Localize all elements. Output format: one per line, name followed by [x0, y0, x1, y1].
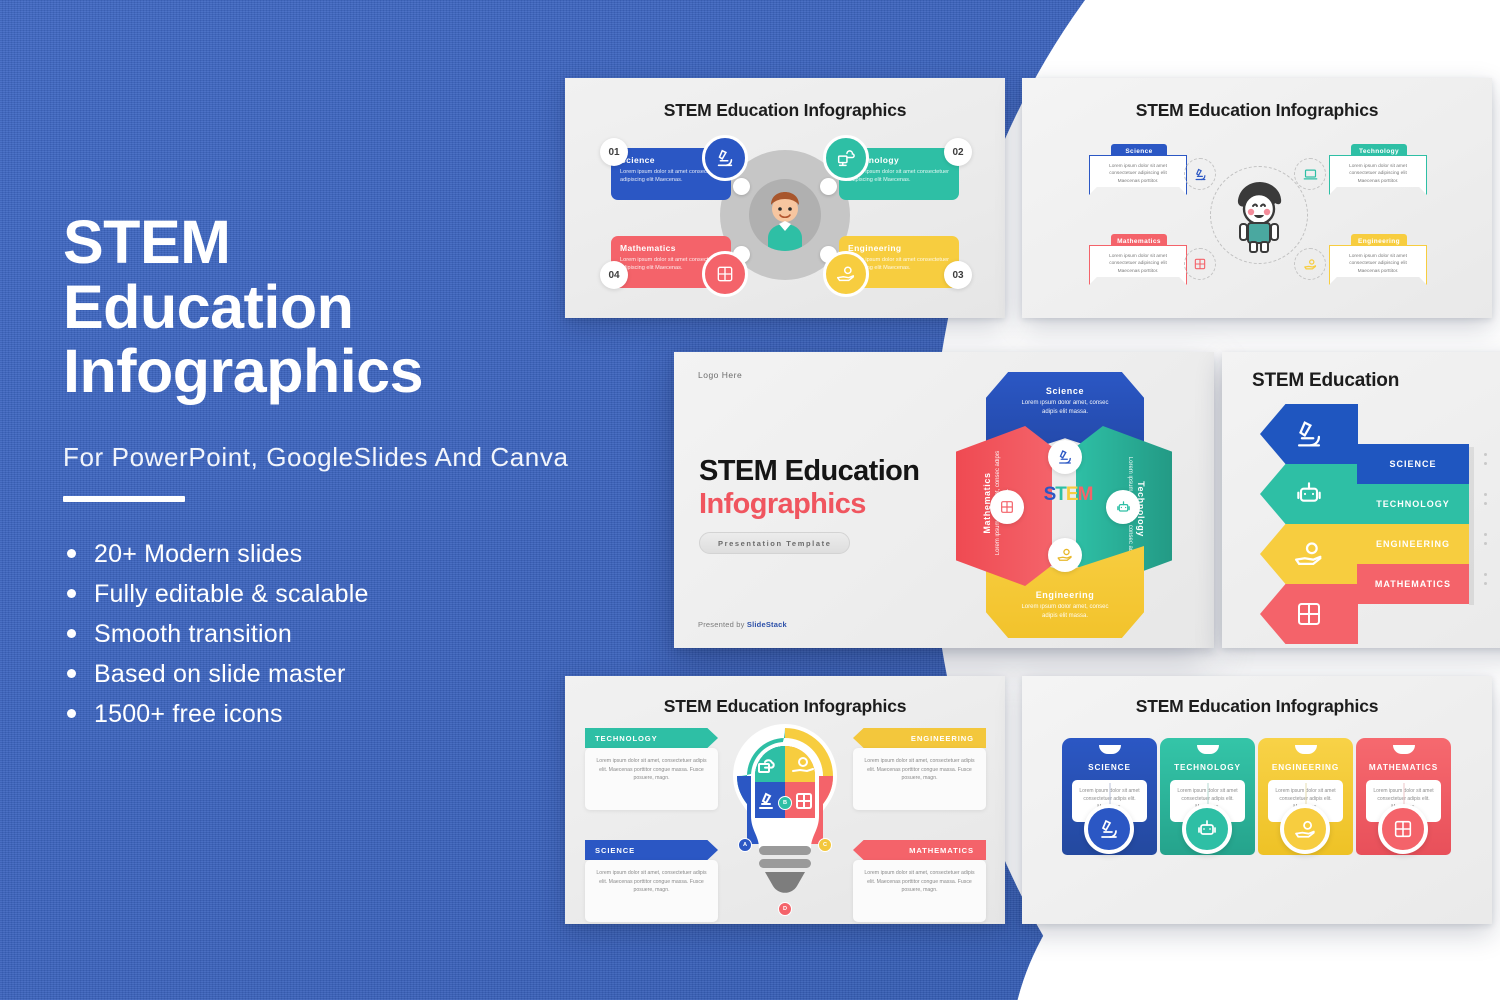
segment-label: Engineering [986, 590, 1144, 600]
calculator-icon [990, 490, 1024, 524]
slide-preview-hang-tags[interactable]: STEM Education Infographics SCIENCE Lore… [1022, 676, 1492, 924]
slide4-text-lines [1484, 447, 1488, 471]
feature-list: 20+ Modern slides Fully editable & scala… [63, 534, 703, 734]
ribbon-description: Lorem ipsum dolor sit amet consectetuer … [1329, 245, 1427, 285]
tag-string [1306, 783, 1307, 805]
gear-hand-icon [823, 251, 869, 297]
slide4-bar-mathematics[interactable]: MATHEMATICS [1357, 564, 1469, 604]
student-avatar [749, 179, 821, 251]
title-line-1: STEM [63, 208, 230, 276]
slide4-text-lines [1484, 487, 1488, 511]
segment-description: Lorem ipsum dolor amet, consec adipis el… [986, 600, 1144, 621]
slide4-hex-technology[interactable] [1260, 464, 1358, 524]
title-line-3: Infographics [63, 337, 423, 405]
lightbulb-diagram [715, 718, 855, 903]
tag-string [1110, 783, 1111, 805]
slide-title: STEM Education Infographics [565, 100, 1005, 121]
slide5-box-technology: Lorem ipsum dolor sit amet, consectetuer… [585, 748, 718, 810]
slide-preview-hex-list[interactable]: STEM Education SCIENCE TECHNOLOGY ENGINE… [1222, 352, 1500, 648]
tag-hole [1393, 745, 1415, 754]
slide5-box-engineering: Lorem ipsum dolor sit amet, consectetuer… [853, 748, 986, 810]
slide3-heading-red: Infographics [699, 488, 866, 521]
tag-string [1208, 783, 1209, 805]
slide2-ribbon-mathematics[interactable]: Mathematics Lorem ipsum dolor sit amet c… [1089, 234, 1187, 296]
calculator-icon [1378, 804, 1428, 854]
slide5-letter-c: C [818, 838, 832, 852]
gear-hand-icon [1294, 248, 1326, 280]
slide1-number-03: 03 [944, 261, 972, 289]
microscope-icon [702, 135, 748, 181]
tag-hole [1295, 745, 1317, 754]
stem-letter-s: S [1044, 484, 1056, 505]
tag-hole [1197, 745, 1219, 754]
microscope-icon [1048, 440, 1082, 474]
slide1-number-01: 01 [600, 138, 628, 166]
tag-label: MATHEMATICS [1356, 763, 1451, 772]
slide5-box-science: Lorem ipsum dolor sit amet, consectetuer… [585, 860, 718, 922]
tag-hole [1099, 745, 1121, 754]
slide5-letter-d: D [778, 902, 792, 916]
slide2-ribbon-science[interactable]: Science Lorem ipsum dolor sit amet conse… [1089, 144, 1187, 206]
footer-prefix: Presented by [698, 620, 747, 629]
slide-preview-main-octagon[interactable]: Logo Here STEM Education Infographics Pr… [674, 352, 1214, 648]
hero-subtitle: For PowerPoint, GoogleSlides And Canva [63, 442, 703, 473]
slide5-letter-a: A [738, 838, 752, 852]
tag-label: SCIENCE [1062, 763, 1157, 772]
stem-logo: STEM [1036, 484, 1100, 506]
slide5-tag-science[interactable]: SCIENCE [585, 840, 718, 860]
tag-label: ENGINEERING [1258, 763, 1353, 772]
ribbon-description: Lorem ipsum dolor sit amet consectetuer … [1329, 155, 1427, 195]
slide5-letter-b: B [778, 796, 792, 810]
laptop-icon [1294, 158, 1326, 190]
slide2-ribbon-technology[interactable]: Technology Lorem ipsum dolor sit amet co… [1329, 144, 1427, 206]
slide3-footer: Presented by SlideStack [698, 620, 787, 629]
slide4-hex-mathematics[interactable] [1260, 584, 1358, 644]
segment-description: Lorem ipsum dolor amet, consec adipis el… [986, 396, 1144, 417]
slide-title: STEM Education Infographics [1022, 100, 1492, 121]
slide4-bar-engineering[interactable]: ENGINEERING [1357, 524, 1469, 564]
slide-title: STEM Education Infographics [1022, 696, 1492, 717]
tag-label: TECHNOLOGY [1160, 763, 1255, 772]
ribbon-description: Lorem ipsum dolor sit amet consectetuer … [1089, 245, 1187, 285]
calculator-icon [702, 251, 748, 297]
slide2-ribbon-engineering[interactable]: Engineering Lorem ipsum dolor sit amet c… [1329, 234, 1427, 296]
stem-letter-e: E [1066, 484, 1078, 505]
bar-shadow [1469, 447, 1474, 605]
list-item: Fully editable & scalable [63, 574, 703, 614]
presentation-template-badge: Presentation Template [699, 532, 850, 554]
hero-divider [63, 496, 185, 502]
gear-hand-icon [1048, 538, 1082, 572]
gear-hand-icon [1280, 804, 1330, 854]
octagon-diagram: Science Lorem ipsum dolor amet, consec a… [924, 366, 1204, 638]
microscope-icon [1084, 804, 1134, 854]
connector-node [733, 178, 750, 195]
slide-title: STEM Education [1252, 370, 1399, 392]
hero-section: STEM Education Infographics For PowerPoi… [63, 210, 703, 734]
cloud-computer-icon [823, 135, 869, 181]
tag-label: MATHEMATICS [909, 846, 974, 855]
robot-icon [1106, 490, 1140, 524]
slide5-tag-engineering[interactable]: ENGINEERING [853, 728, 986, 748]
calculator-icon [1184, 248, 1216, 280]
robot-icon [1182, 804, 1232, 854]
list-item: Based on slide master [63, 654, 703, 694]
tag-label: TECHNOLOGY [595, 734, 658, 743]
slide3-heading-black: STEM Education [699, 455, 919, 488]
footer-brand: SlideStack [747, 620, 787, 629]
slide1-number-02: 02 [944, 138, 972, 166]
slide5-tag-mathematics[interactable]: MATHEMATICS [853, 840, 986, 860]
connector-node [820, 178, 837, 195]
list-item: 20+ Modern slides [63, 534, 703, 574]
kid-character [1224, 176, 1294, 256]
tag-label: SCIENCE [595, 846, 635, 855]
slide-preview-ribbons[interactable]: STEM Education Infographics Science Lore… [1022, 78, 1492, 318]
list-item: 1500+ free icons [63, 694, 703, 734]
card-label: Engineering [848, 243, 950, 253]
logo-placeholder: Logo Here [698, 370, 742, 380]
slide5-box-mathematics: Lorem ipsum dolor sit amet, consectetuer… [853, 860, 986, 922]
list-item: Smooth transition [63, 614, 703, 654]
tag-label: ENGINEERING [911, 734, 974, 743]
ribbon-description: Lorem ipsum dolor sit amet consectetuer … [1089, 155, 1187, 195]
segment-label: Science [986, 386, 1144, 396]
slide4-bar-technology[interactable]: TECHNOLOGY [1357, 484, 1469, 524]
slide4-hex-engineering[interactable] [1260, 524, 1358, 584]
slide4-bar-science[interactable]: SCIENCE [1357, 444, 1469, 484]
slide4-hex-science[interactable] [1260, 404, 1358, 464]
stem-letter-t: T [1055, 484, 1066, 505]
slide4-text-lines [1484, 527, 1488, 551]
tag-string [1404, 783, 1405, 805]
slide4-text-lines [1484, 567, 1488, 591]
title-line-2: Education [63, 273, 353, 341]
microscope-icon [1184, 158, 1216, 190]
stem-letter-m: M [1078, 484, 1093, 505]
page-title: STEM Education Infographics [63, 210, 703, 404]
